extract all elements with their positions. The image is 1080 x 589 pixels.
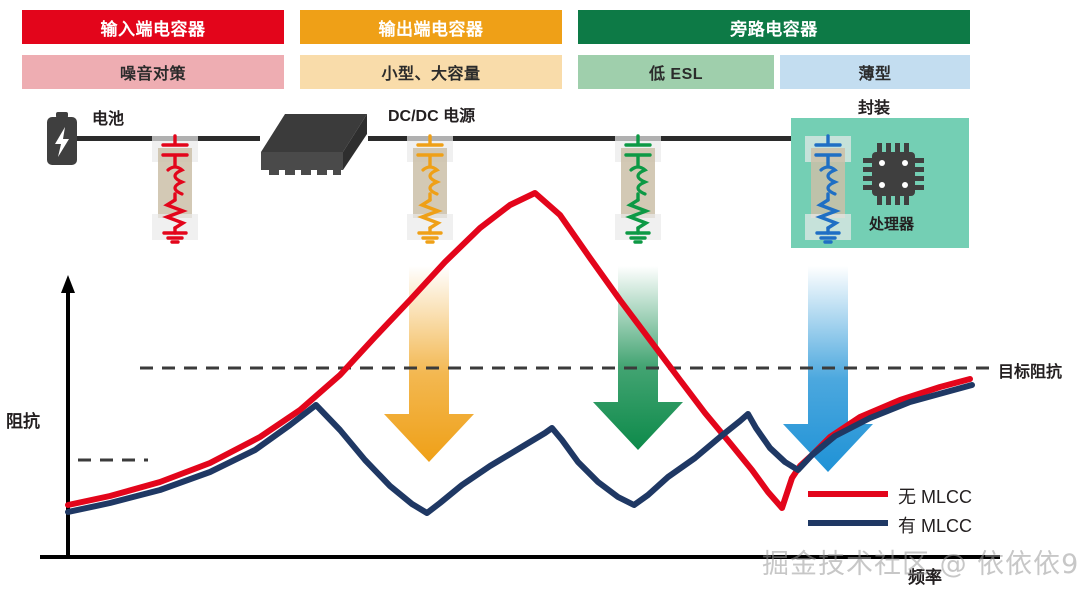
watermark: 掘金技术社区 @ 依依依92 — [762, 542, 1080, 581]
y-axis-label: 阻抗 — [6, 407, 40, 432]
legend-label-with-mlcc: 有 MLCC — [898, 512, 972, 538]
target-impedance-label: 目标阻抗 — [998, 358, 1062, 382]
diagram-root: 输入端电容器 噪音对策 输出端电容器 小型、大容量 旁路电容器 低 ESL 薄型… — [0, 0, 1080, 589]
arrow-output-cap — [384, 266, 474, 462]
legend-label-without-mlcc: 无 MLCC — [898, 483, 972, 509]
chart-axes — [40, 275, 1000, 557]
arrow-bypass-cap — [593, 266, 683, 450]
